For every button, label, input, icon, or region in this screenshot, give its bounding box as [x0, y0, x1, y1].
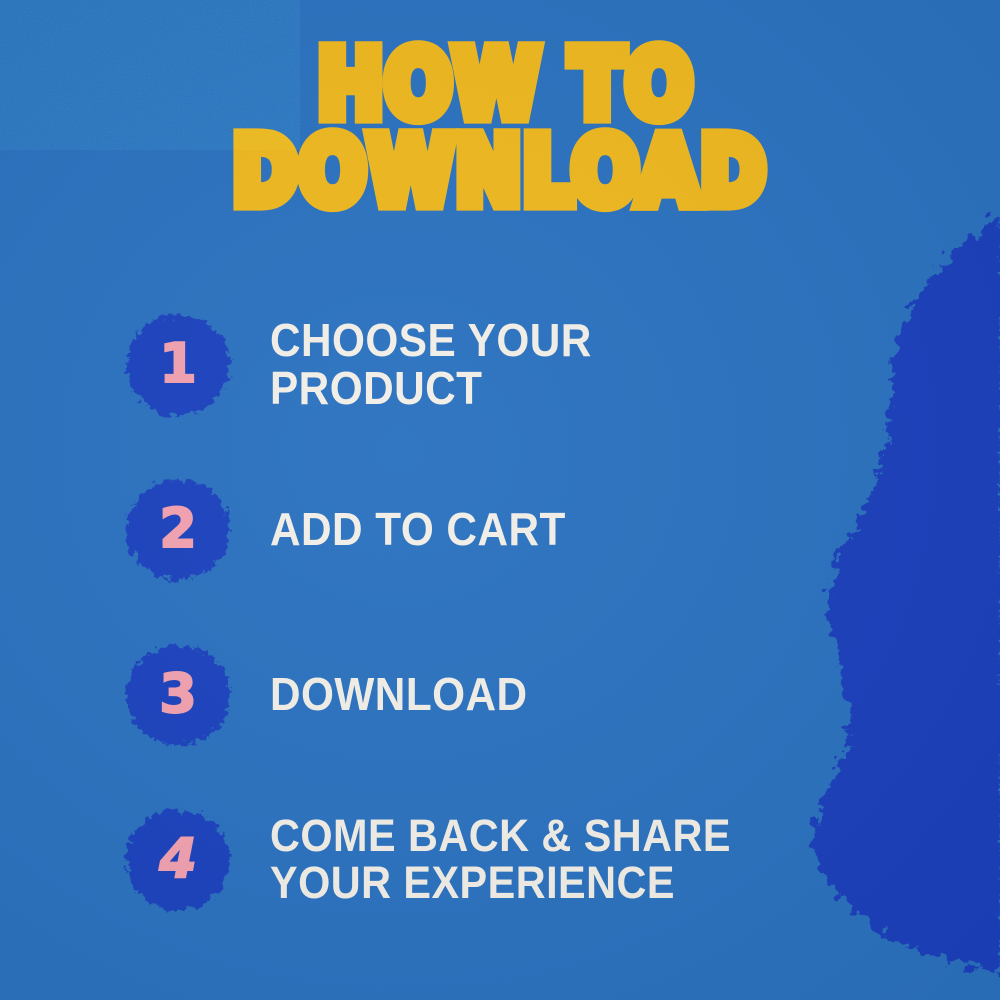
list-item: 4 COME BACK & SHARE YOUR EXPERIENCE: [0, 777, 820, 942]
how-to-download-poster: HOW TO DOWNLOAD 1: [0, 0, 1000, 1000]
list-item: 1 CHOOSE YOUR PRODUCT: [0, 282, 820, 447]
title-line-2: DOWNLOAD: [0, 131, 1000, 216]
step-badge-1: 1: [120, 307, 236, 423]
page-title: HOW TO DOWNLOAD: [0, 44, 1000, 203]
step-number: 2: [159, 502, 197, 556]
step-label: COME BACK & SHARE YOUR EXPERIENCE: [270, 813, 731, 907]
step-badge-3: 3: [120, 637, 236, 753]
steps-list: 1 CHOOSE YOUR PRODUCT: [0, 282, 820, 942]
step-label: DOWNLOAD: [270, 671, 528, 719]
title-line-1: HOW TO: [0, 44, 1000, 129]
step-label: CHOOSE YOUR PRODUCT: [270, 317, 776, 413]
list-item: 3 DOWNLOAD: [0, 612, 820, 777]
step-number: 4: [159, 832, 197, 886]
step-badge-4: 4: [120, 802, 236, 918]
step-number: 3: [159, 667, 197, 721]
step-number: 1: [159, 337, 197, 391]
step-badge-2: 2: [120, 472, 236, 588]
step-label: ADD TO CART: [270, 506, 566, 554]
list-item: 2 ADD TO CART: [0, 447, 820, 612]
